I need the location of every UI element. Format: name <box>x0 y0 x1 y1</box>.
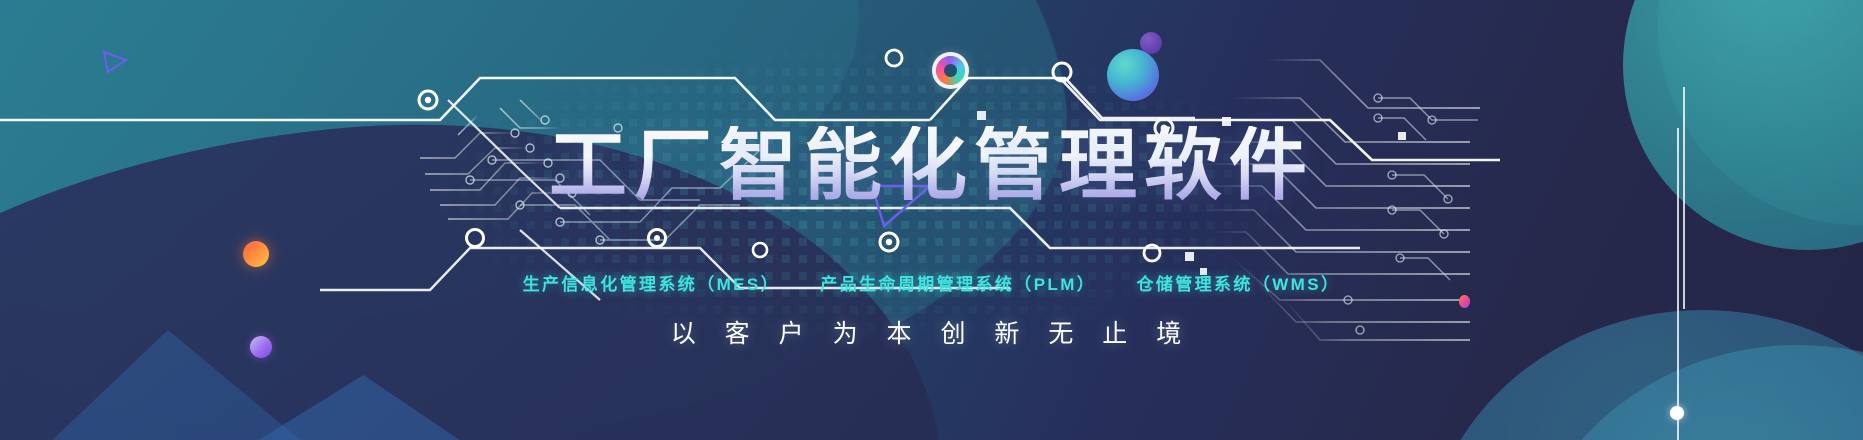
dot-orange <box>243 241 269 267</box>
dot-pink <box>1459 295 1470 308</box>
product-item-mes: 生产信息化管理系统（MES） <box>523 270 780 295</box>
banner-root: 工厂智能化管理软件 生产信息化管理系统（MES） 产品生命周期管理系统（PLM）… <box>0 0 1863 440</box>
product-item-plm: 产品生命周期管理系统（PLM） <box>820 270 1096 295</box>
page-title: 工厂智能化管理软件 <box>0 126 1863 204</box>
product-list: 生产信息化管理系统（MES） 产品生命周期管理系统（PLM） 仓储管理系统（WM… <box>0 270 1863 295</box>
product-item-wms: 仓储管理系统（WMS） <box>1136 270 1340 295</box>
circuit-board-graphic <box>0 0 1863 440</box>
triangle-outline-left <box>104 52 126 72</box>
gradient-sphere-node <box>1107 49 1159 101</box>
gradient-sphere-node-small <box>1140 32 1162 54</box>
tagline: 以 客 户 为 本 创 新 无 止 境 <box>0 314 1863 350</box>
color-ring-node <box>936 56 965 85</box>
